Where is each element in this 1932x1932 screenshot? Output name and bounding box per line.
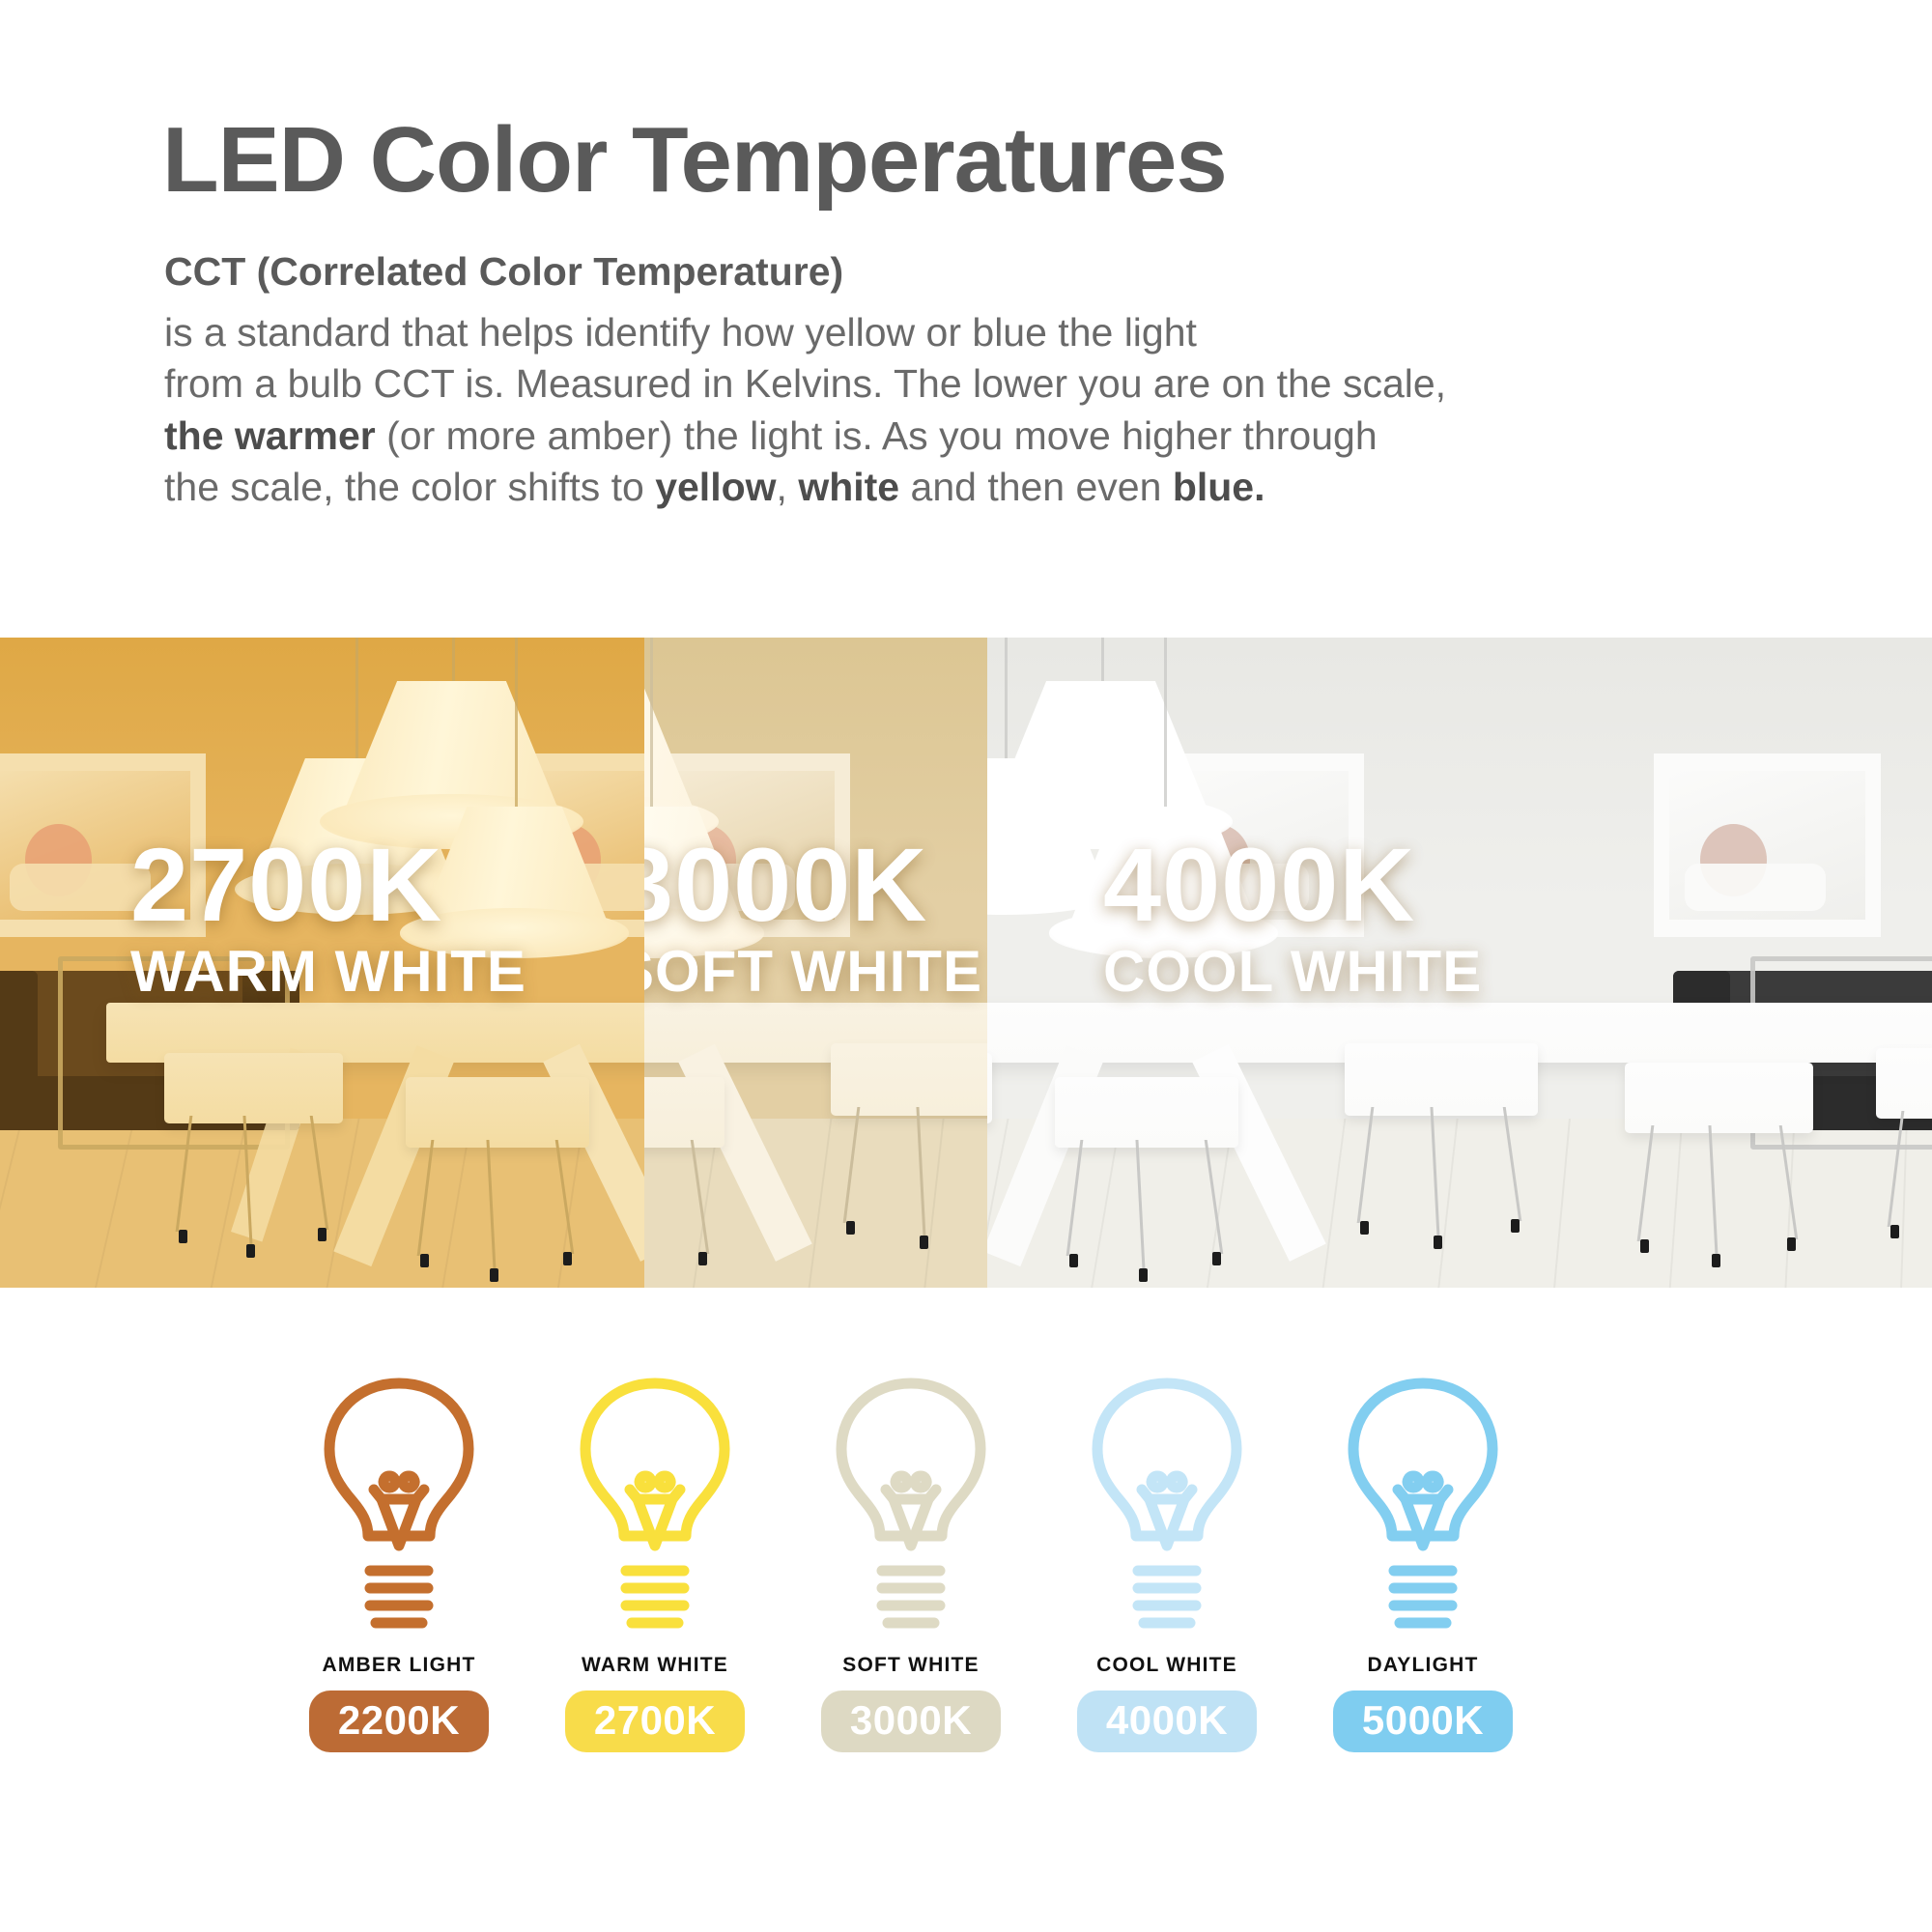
chair-leg: [1708, 1125, 1718, 1256]
chair-leg: [843, 1107, 861, 1223]
chair-seat: [406, 1077, 589, 1148]
chair: [1625, 1063, 1813, 1270]
kelvin-value-3000k: 3000K: [644, 836, 982, 935]
chair-seat: [1625, 1063, 1813, 1133]
lamp-cord: [515, 638, 518, 809]
line4-sep: ,: [777, 465, 799, 509]
kelvin-pill[interactable]: 5000K: [1333, 1690, 1513, 1752]
kelvin-pill[interactable]: 4000K: [1077, 1690, 1257, 1752]
chair: [1345, 1043, 1538, 1256]
picture-blanket-3: [1685, 864, 1826, 912]
chair-leg: [1778, 1125, 1798, 1239]
chair-seat: [644, 1077, 724, 1148]
pendant-lamp: [338, 681, 565, 826]
bulb-scale-row: AMBER LIGHT 2200K WARM WHITE 2700K: [0, 1372, 1932, 1932]
overlay-label-3000k: 3000K SOFT WHITE: [644, 836, 982, 1001]
bulb-scale-item-2200k[interactable]: AMBER LIGHT 2200K: [269, 1372, 529, 1752]
chair-leg: [1430, 1107, 1439, 1237]
chair-leg: [555, 1140, 575, 1254]
bulb-scale-item-5000k[interactable]: DAYLIGHT 5000K: [1293, 1372, 1553, 1752]
photo-panel-3000k: 3000K SOFT WHITE: [644, 638, 987, 1288]
chair-foot: [1890, 1225, 1899, 1238]
chair-foot: [179, 1230, 187, 1243]
chair-leg: [1888, 1111, 1905, 1227]
chair-seat: [987, 1053, 992, 1123]
overlay-label-2700k: 2700K WARM WHITE: [130, 836, 526, 1001]
chair-leg: [1066, 1140, 1084, 1256]
chair-foot: [846, 1221, 855, 1235]
chair-foot: [318, 1228, 327, 1241]
kelvin-pill[interactable]: 2200K: [309, 1690, 489, 1752]
light-bulb-icon: [824, 1372, 998, 1642]
bulb-scale-item-3000k[interactable]: SOFT WHITE 3000K: [781, 1372, 1041, 1752]
chair-leg: [417, 1140, 435, 1256]
chair-seat: [1876, 1048, 1932, 1119]
photo-comparison-band: 2700K WARM WHITE: [0, 638, 1932, 1288]
light-bulb-icon: [1080, 1372, 1254, 1642]
chair-foot: [920, 1236, 928, 1249]
header-section: LED Color Temperatures CCT (Correlated C…: [0, 0, 1932, 638]
paragraph-line-1: is a standard that helps identify how ye…: [164, 307, 1806, 358]
chair-foot: [1640, 1239, 1649, 1253]
chair: [987, 1053, 992, 1261]
chair: [1055, 1077, 1238, 1285]
kelvin-name-cool-white: COOL WHITE: [1103, 943, 1482, 1001]
bulb-label: DAYLIGHT: [1293, 1654, 1553, 1677]
pendant-lamp: [644, 681, 700, 826]
chair-leg: [1503, 1107, 1522, 1221]
chair-foot: [563, 1252, 572, 1265]
paragraph-line-4-a: the scale, the color shifts to: [164, 465, 655, 509]
overlay-label-4000k: 4000K COOL WHITE: [1103, 836, 1482, 1001]
paragraph-line-3: the warmer (or more amber) the light is.…: [164, 411, 1806, 462]
chair-seat: [1345, 1043, 1538, 1116]
chair-foot: [1212, 1252, 1221, 1265]
chair: [164, 1053, 343, 1261]
chair-foot: [490, 1268, 498, 1282]
chair-leg: [487, 1140, 497, 1270]
bulb-scale-item-4000k[interactable]: COOL WHITE 4000K: [1037, 1372, 1297, 1752]
paragraph-line-2: from a bulb CCT is. Measured in Kelvins.…: [164, 358, 1806, 410]
intro-paragraph: is a standard that helps identify how ye…: [164, 307, 1806, 513]
paragraph-line-4: the scale, the color shifts to yellow, w…: [164, 462, 1806, 513]
kelvin-name-soft-white: SOFT WHITE: [644, 943, 982, 1001]
picture-photo-3: [1669, 771, 1865, 921]
chair-leg: [916, 1107, 925, 1237]
chair-foot: [1434, 1236, 1442, 1249]
chair: [406, 1077, 589, 1285]
kelvin-value-4000k: 4000K: [1103, 836, 1482, 935]
chair: [644, 1077, 724, 1285]
wall-picture-frame-3: [1654, 753, 1881, 937]
bulb-label: AMBER LIGHT: [269, 1654, 529, 1677]
chair-foot: [1787, 1237, 1796, 1251]
bulb-label: WARM WHITE: [525, 1654, 785, 1677]
chair-seat: [164, 1053, 343, 1123]
chair-foot: [246, 1244, 255, 1258]
chair-leg: [310, 1116, 329, 1230]
paragraph-line-3-rest: (or more amber) the light is. As you mov…: [376, 413, 1378, 458]
pendant-lamp: [987, 681, 1214, 826]
bulb-label: SOFT WHITE: [781, 1654, 1041, 1677]
chair-leg: [691, 1140, 710, 1254]
bold-white: white: [798, 465, 899, 509]
chair-foot: [1511, 1219, 1520, 1233]
chair-leg: [1136, 1140, 1146, 1270]
chair: [1876, 1048, 1932, 1256]
light-bulb-icon: [1336, 1372, 1510, 1642]
bold-yellow: yellow: [655, 465, 776, 509]
infographic-page: LED Color Temperatures CCT (Correlated C…: [0, 0, 1932, 1932]
chair-seat: [831, 1043, 987, 1116]
subheading: CCT (Correlated Color Temperature): [164, 249, 843, 295]
bulb-scale-item-2700k[interactable]: WARM WHITE 2700K: [525, 1372, 785, 1752]
lamp-cord: [650, 638, 653, 809]
chair-foot: [1069, 1254, 1078, 1267]
page-title: LED Color Temperatures: [162, 114, 1227, 207]
bold-blue: blue.: [1173, 465, 1265, 509]
lamp-cord: [1101, 638, 1104, 683]
chair-foot: [1360, 1221, 1369, 1235]
photo-panel-2700k: 2700K WARM WHITE: [0, 638, 644, 1288]
kelvin-name-warm-white: WARM WHITE: [130, 943, 526, 1001]
kelvin-value-2700k: 2700K: [130, 836, 526, 935]
chair-foot: [698, 1252, 707, 1265]
chair-seat: [1055, 1077, 1238, 1148]
chair-leg: [1357, 1107, 1375, 1223]
kelvin-pill[interactable]: 3000K: [821, 1690, 1001, 1752]
bulb-label: COOL WHITE: [1037, 1654, 1297, 1677]
light-bulb-icon: [312, 1372, 486, 1642]
chair-leg: [1205, 1140, 1224, 1254]
chair-leg: [1636, 1125, 1654, 1241]
chair-leg: [175, 1116, 192, 1232]
lamp-cord: [452, 638, 455, 683]
kelvin-pill[interactable]: 2700K: [565, 1690, 745, 1752]
chair-foot: [420, 1254, 429, 1267]
paragraph-line-4-c: and then even: [899, 465, 1173, 509]
chair: [831, 1043, 987, 1256]
photo-panel-4000k: 4000K COOL WHITE: [987, 638, 1932, 1288]
chair-foot: [1712, 1254, 1720, 1267]
chair-leg: [243, 1116, 253, 1246]
chair-foot: [1139, 1268, 1148, 1282]
light-bulb-icon: [568, 1372, 742, 1642]
bold-the-warmer: the warmer: [164, 413, 376, 458]
lamp-cord: [1164, 638, 1167, 809]
